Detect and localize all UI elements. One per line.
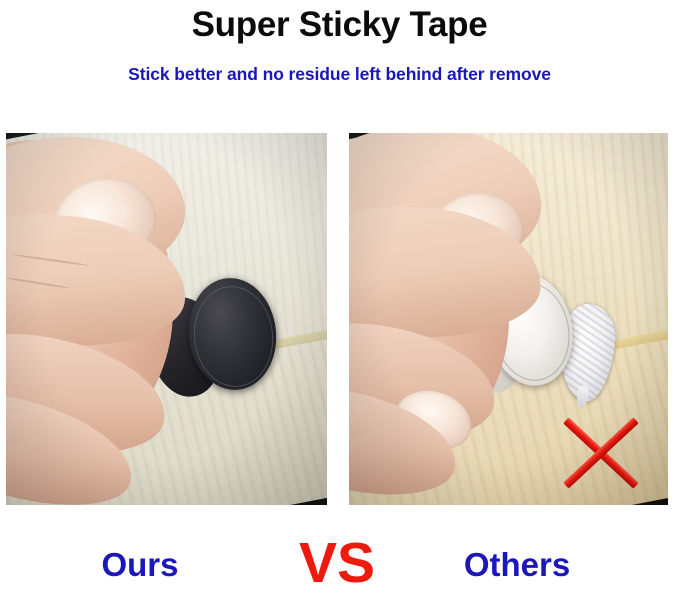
label-others: Others xyxy=(437,545,597,585)
scene-ours xyxy=(6,133,327,505)
comparison-labels: Ours VS Others xyxy=(0,505,679,605)
label-versus: VS xyxy=(272,532,402,594)
header: Super Sticky Tape Stick better and no re… xyxy=(0,0,679,120)
page-subtitle: Stick better and no residue left behind … xyxy=(0,63,679,85)
comparison-photo-ours: Hand pressing a black round felt furnitu… xyxy=(6,133,327,505)
label-ours: Ours xyxy=(60,545,220,585)
comparison-photo-others: Hand removing a white round furniture pa… xyxy=(349,133,668,505)
scene-others xyxy=(349,133,668,505)
red-x-icon xyxy=(553,408,649,497)
page-title: Super Sticky Tape xyxy=(0,4,679,46)
